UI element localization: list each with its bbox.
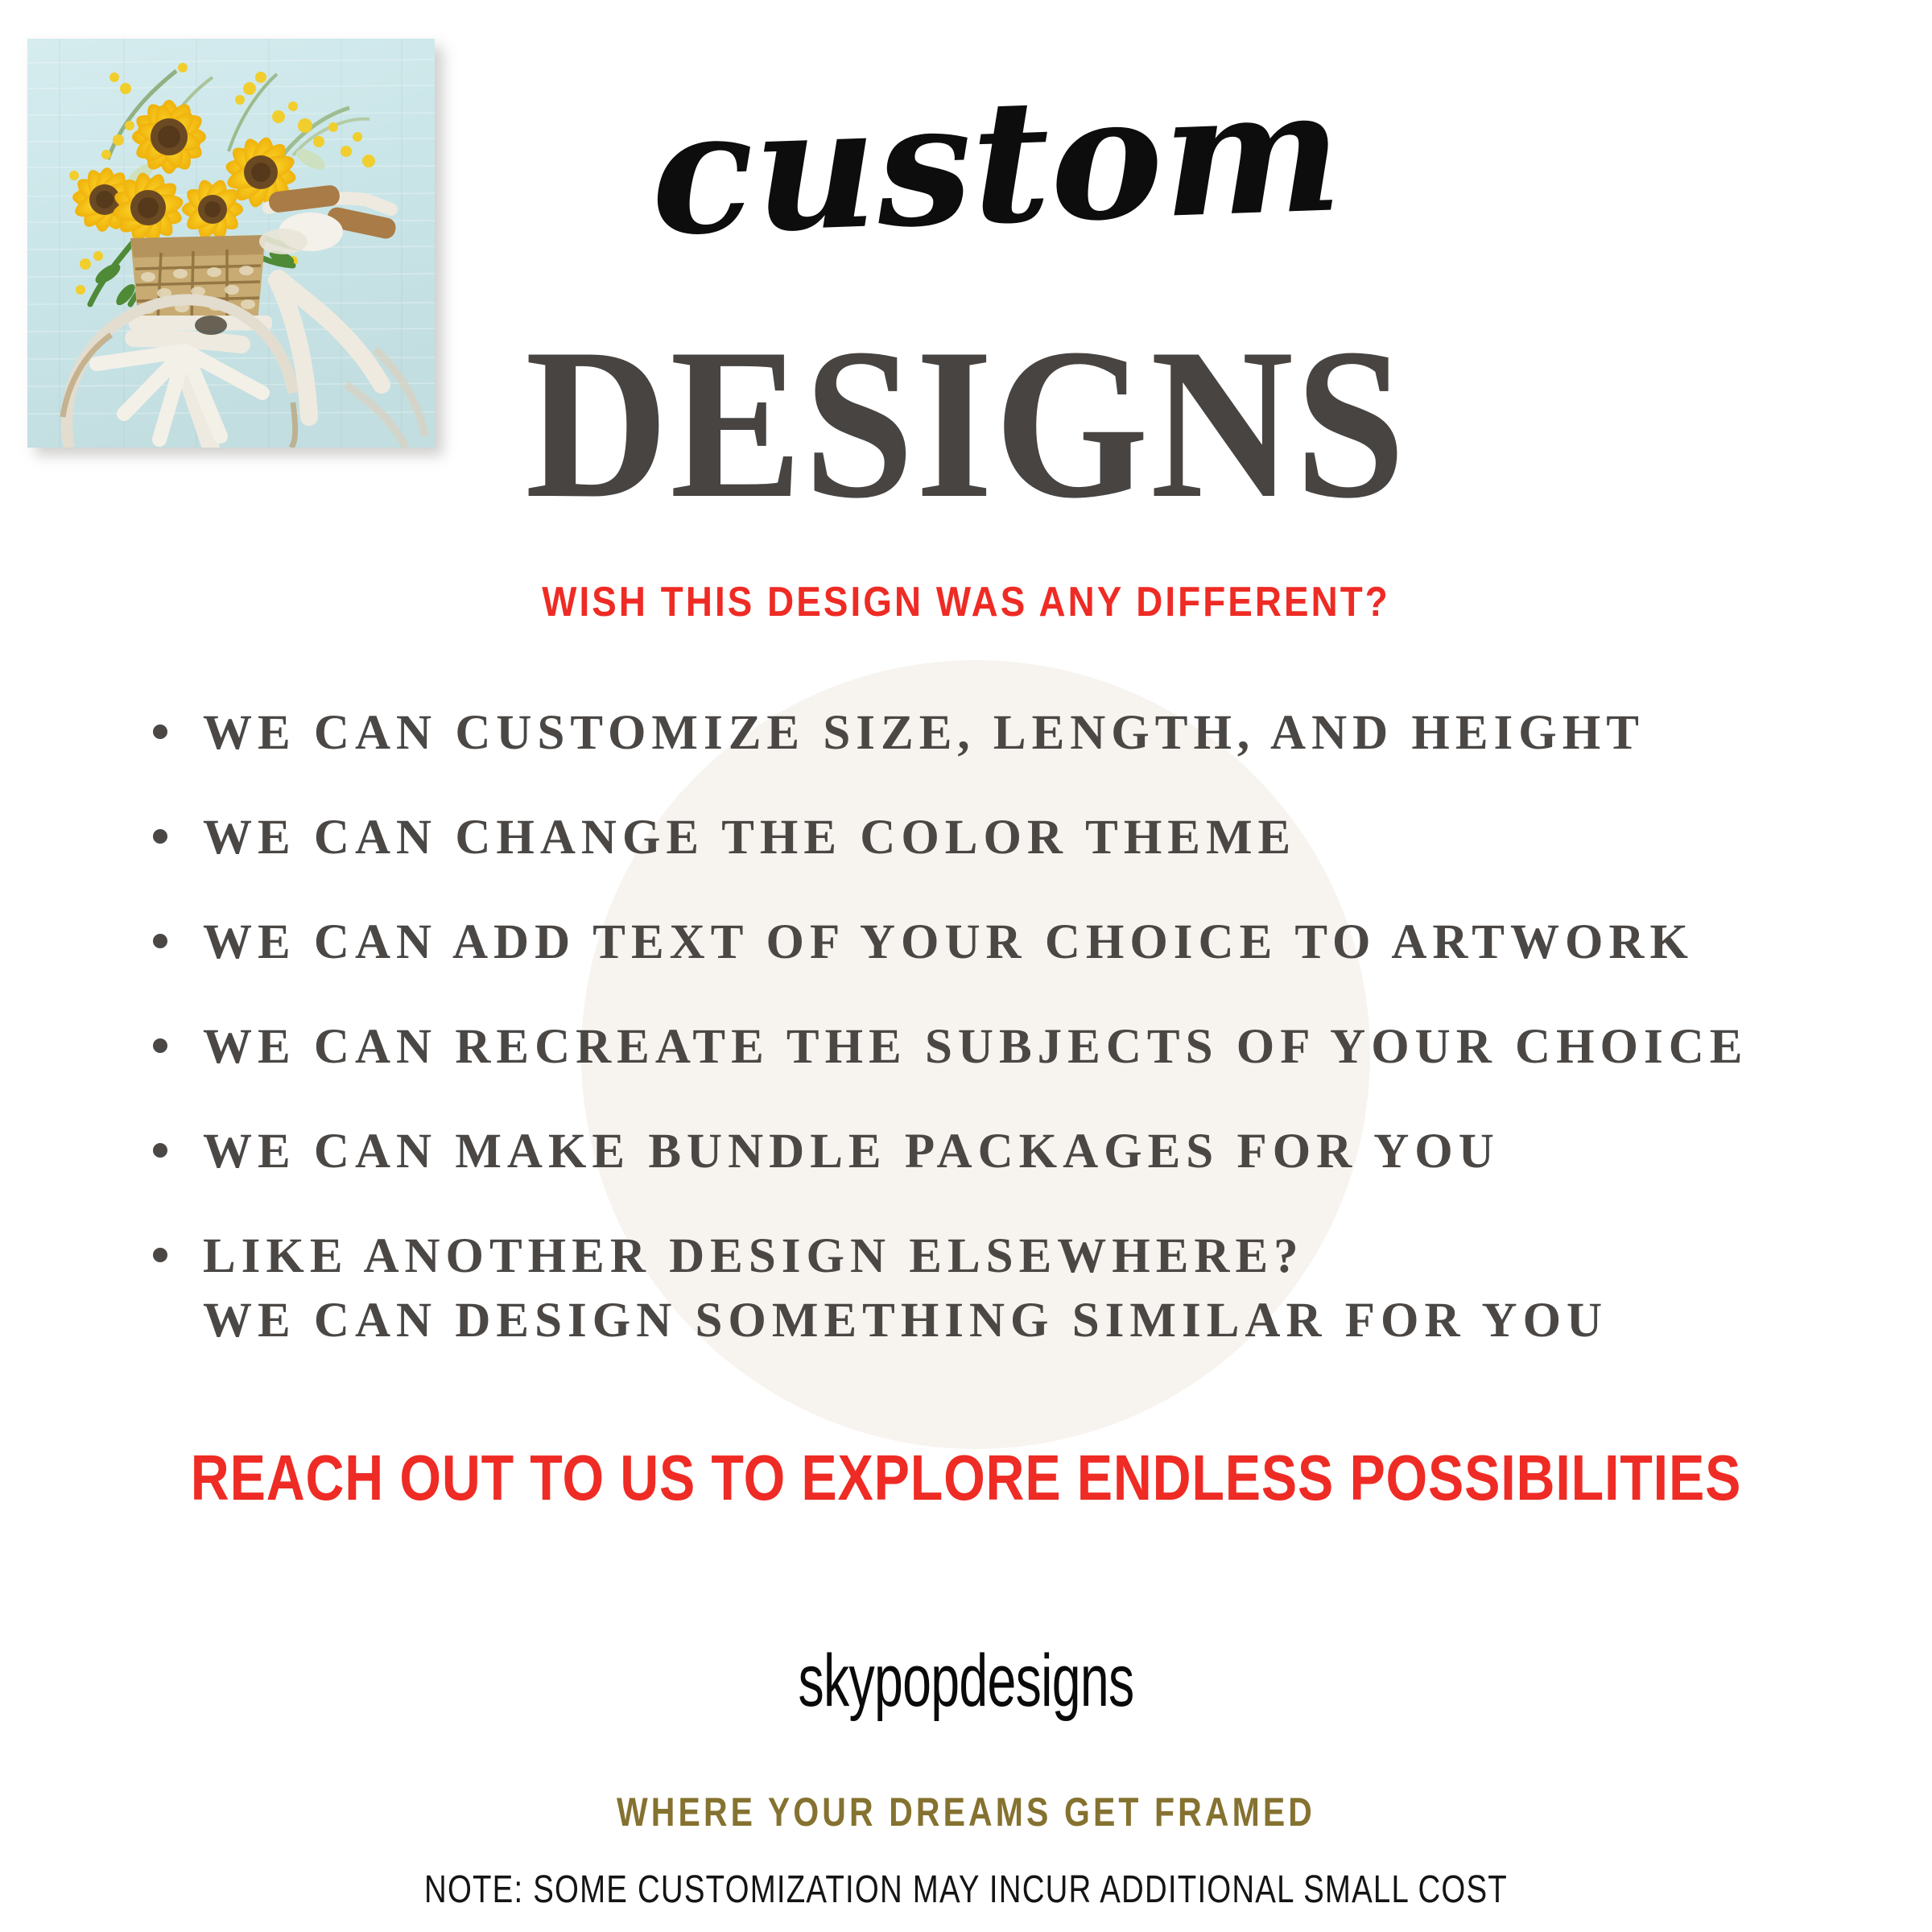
bullet-dot-icon	[153, 1038, 167, 1053]
list-item: LIKE ANOTHER DESIGN ELSEWHERE?	[153, 1232, 1811, 1282]
brand-name: skypopdesigns	[290, 1639, 1642, 1724]
script-headline-text: custom	[647, 51, 1344, 274]
list-item-label: LIKE ANOTHER DESIGN ELSEWHERE?	[203, 1232, 1304, 1281]
list-item: WE CAN ADD TEXT OF YOUR CHOICE TO ARTWOR…	[153, 918, 1811, 968]
list-item-label: WE CAN CUSTOMIZE SIZE, LENGTH, AND HEIGH…	[203, 708, 1645, 758]
list-item: WE CAN RECREATE THE SUBJECTS OF YOUR CHO…	[153, 1022, 1811, 1072]
list-item-label: WE CAN RECREATE THE SUBJECTS OF YOUR CHO…	[203, 1022, 1748, 1071]
bullet-dot-icon	[153, 724, 167, 739]
call-to-action-text: REACH OUT TO US TO EXPLORE ENDLESS POSSI…	[164, 1441, 1768, 1515]
bullet-dot-icon	[153, 1248, 167, 1262]
brand-tagline: WHERE YOUR DREAMS GET FRAMED	[174, 1789, 1758, 1835]
list-item: WE CAN CUSTOMIZE SIZE, LENGTH, AND HEIGH…	[153, 708, 1811, 758]
script-headline-svg: custom	[596, 60, 1401, 286]
page-title-designs: DESIGNS	[77, 316, 1855, 531]
bullet-dot-icon	[153, 829, 167, 844]
list-item-continuation-label: WE CAN DESIGN SOMETHING SIMILAR FOR YOU	[203, 1296, 1608, 1345]
footnote-disclaimer: NOTE: SOME CUSTOMIZATION MAY INCUR ADDIT…	[193, 1868, 1739, 1912]
list-item-label: WE CAN CHANGE THE COLOR THEME	[203, 813, 1296, 862]
subtitle-question: WISH THIS DESIGN WAS ANY DIFFERENT?	[116, 578, 1816, 626]
script-headline-custom: custom	[435, 56, 1562, 290]
list-item-label: WE CAN ADD TEXT OF YOUR CHOICE TO ARTWOR…	[203, 918, 1694, 967]
bullet-dot-icon	[153, 934, 167, 948]
bullet-dot-icon	[153, 1143, 167, 1158]
list-item: WE CAN CHANGE THE COLOR THEME	[153, 813, 1811, 863]
custom-designs-poster: custom DESIGNS WISH THIS DESIGN WAS ANY …	[0, 0, 1932, 1932]
customization-options-list: WE CAN CUSTOMIZE SIZE, LENGTH, AND HEIGH…	[153, 708, 1811, 1336]
list-item: WE CAN MAKE BUNDLE PACKAGES FOR YOU	[153, 1127, 1811, 1177]
list-item-label: WE CAN MAKE BUNDLE PACKAGES FOR YOU	[203, 1127, 1500, 1176]
